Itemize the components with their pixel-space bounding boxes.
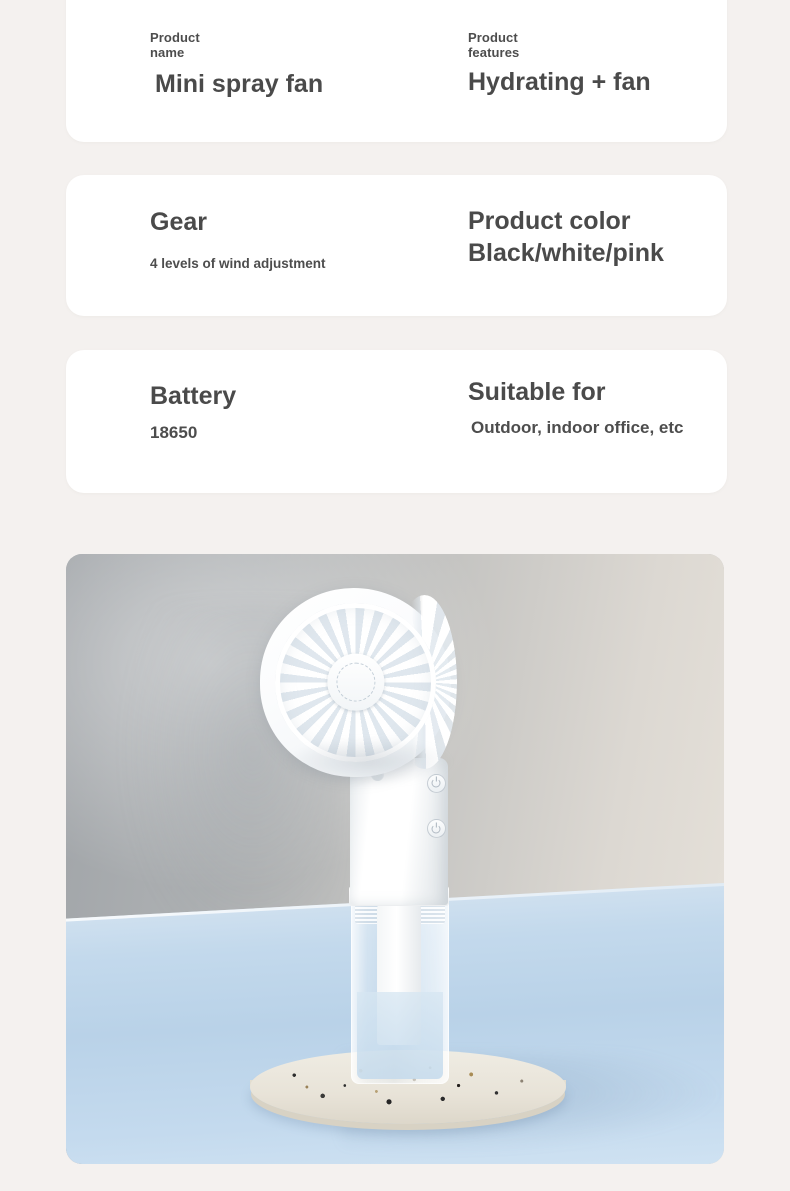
power-button-icon [427,819,446,838]
spec-label: Product features [468,30,519,60]
spec-label: Gear [150,208,207,236]
spec-card-1: Product name Mini spray fan Product feat… [66,0,727,142]
spec-value: 18650 [150,423,197,443]
spec-label: Battery [150,382,236,410]
water-tank [351,893,449,1084]
spec-value: Outdoor, indoor office, etc [471,418,684,438]
spec-card-2: Gear 4 levels of wind adjustment Product… [66,175,727,316]
product-photo [66,554,724,1164]
fan-hub [327,654,384,711]
spec-value: Hydrating + fan [468,68,651,96]
spec-card-3: Battery 18650 Suitable for Outdoor, indo… [66,350,727,493]
spec-value: Black/white/pink [468,239,664,267]
spec-label: Product color [468,207,631,235]
product-detail-page: Product name Mini spray fan Product feat… [0,0,790,1191]
spec-value: 4 levels of wind adjustment [150,256,326,272]
tank-water-level [357,992,443,1079]
power-glyph-icon [432,824,441,833]
spec-label: Suitable for [468,378,606,406]
spec-label: Product name [150,30,200,60]
fan-head-shadow [283,737,454,786]
spec-value: Mini spray fan [155,70,323,98]
